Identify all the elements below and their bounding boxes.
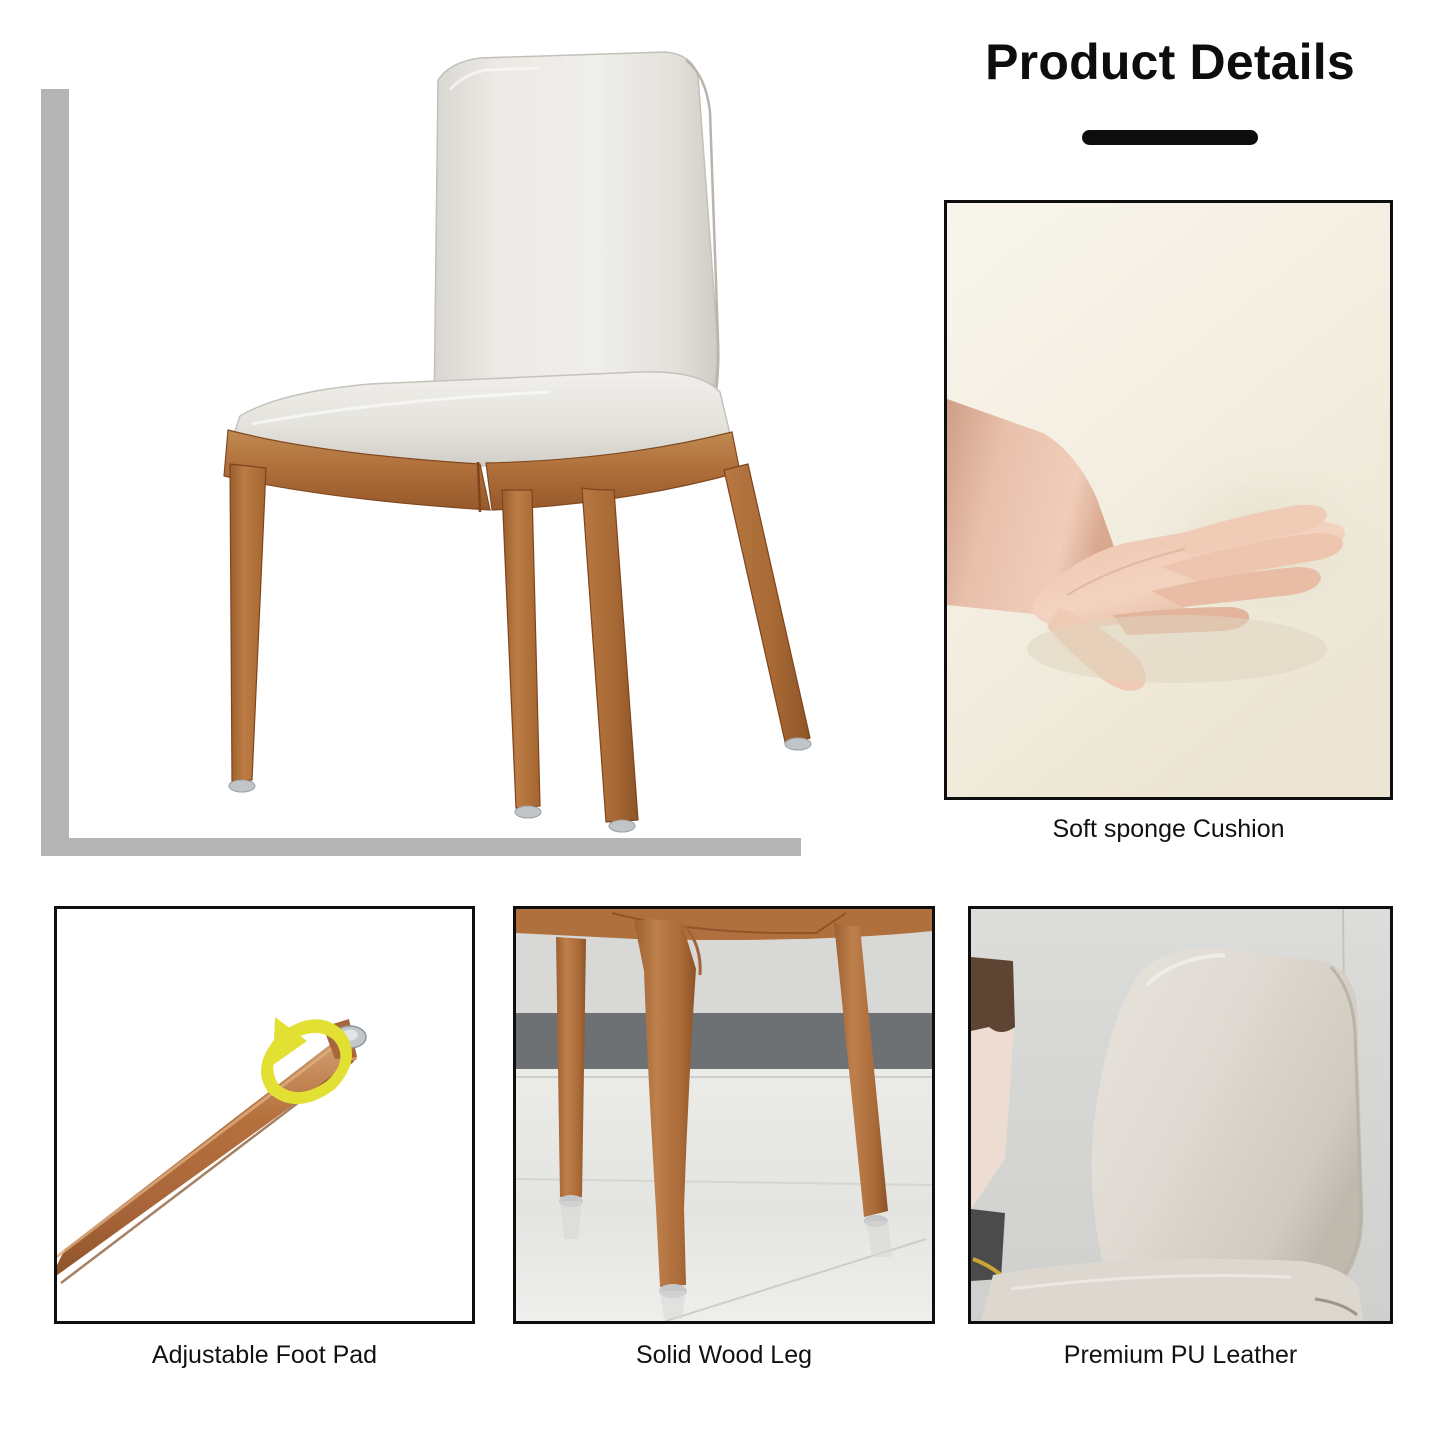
wood-leg-photo xyxy=(516,909,932,1321)
corner-accent-vertical xyxy=(41,89,69,856)
panel-solid-wood-leg[interactable] xyxy=(513,906,935,1324)
cushion-photo xyxy=(947,203,1390,797)
dark-wood-trim xyxy=(971,957,1015,1032)
caption-solid-wood-leg: Solid Wood Leg xyxy=(513,1340,935,1370)
hand-shadow xyxy=(1027,615,1327,683)
panel-adjustable-foot-pad[interactable] xyxy=(54,906,475,1324)
panel-soft-sponge-cushion[interactable] xyxy=(944,200,1393,800)
chair-leg-center xyxy=(582,488,638,822)
leather-seat xyxy=(981,1259,1363,1321)
foot-pad-back-right xyxy=(785,738,811,750)
dark-object-lower xyxy=(971,1209,1005,1281)
title-underline-bar xyxy=(1082,130,1258,145)
chair-apron xyxy=(516,909,932,940)
chair-illustration xyxy=(120,20,820,860)
chair-leg-front-left xyxy=(230,464,266,782)
page-heading: Product Details xyxy=(940,36,1400,145)
pu-leather-photo xyxy=(971,909,1390,1321)
chair-leg-back-right xyxy=(724,464,810,746)
leather-backrest xyxy=(1092,948,1364,1309)
chair-leg-front-right xyxy=(502,490,540,808)
caption-premium-pu-leather: Premium PU Leather xyxy=(968,1340,1393,1370)
product-details-page: Product Details xyxy=(0,0,1445,1445)
hero-chair-image xyxy=(120,20,820,860)
caption-soft-sponge-cushion: Soft sponge Cushion xyxy=(944,814,1393,844)
foot-pad-center xyxy=(609,820,635,832)
chair-leg-back-left xyxy=(556,937,586,1197)
foot-pad-front-right xyxy=(515,806,541,818)
caption-adjustable-foot-pad: Adjustable Foot Pad xyxy=(54,1340,475,1370)
foot-pad-front-left xyxy=(229,780,255,792)
panel-premium-pu-leather[interactable] xyxy=(968,906,1393,1324)
reflection-center xyxy=(660,1291,686,1319)
page-title: Product Details xyxy=(940,36,1400,89)
foot-pad-photo xyxy=(57,909,472,1321)
